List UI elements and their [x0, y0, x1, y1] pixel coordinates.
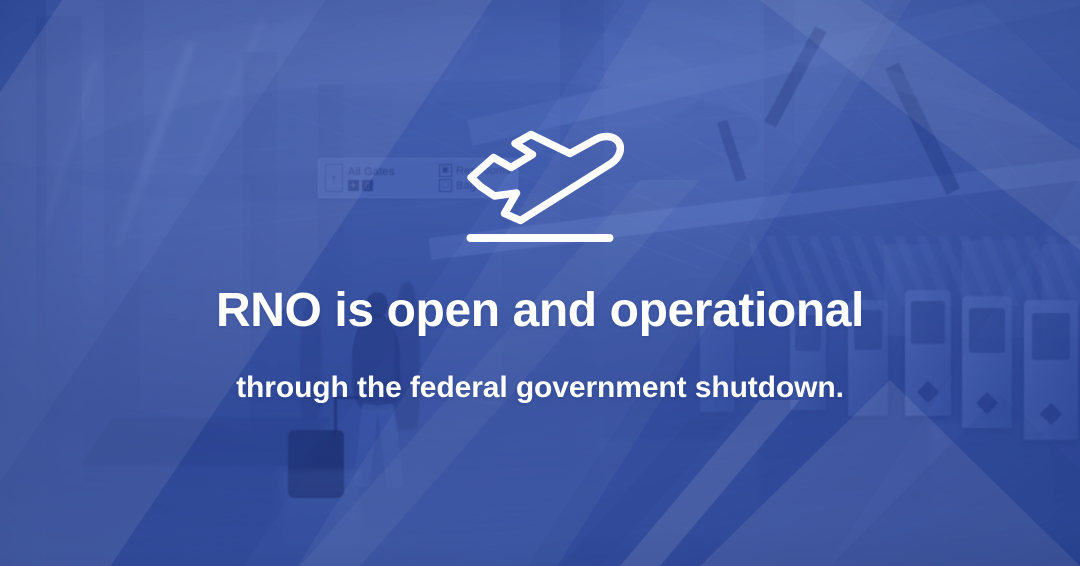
promo-banner: ↑ All Gates ✈ ▯ ▣ Restrooms ▢ Bag [0, 0, 1080, 566]
runway-bar [467, 234, 614, 242]
page-title: RNO is open and operational [0, 286, 1080, 336]
page-subtitle: through the federal government shutdown. [0, 371, 1080, 404]
airplane-takeoff-icon [456, 128, 624, 232]
banner-content: RNO is open and operational through the … [0, 0, 1080, 566]
